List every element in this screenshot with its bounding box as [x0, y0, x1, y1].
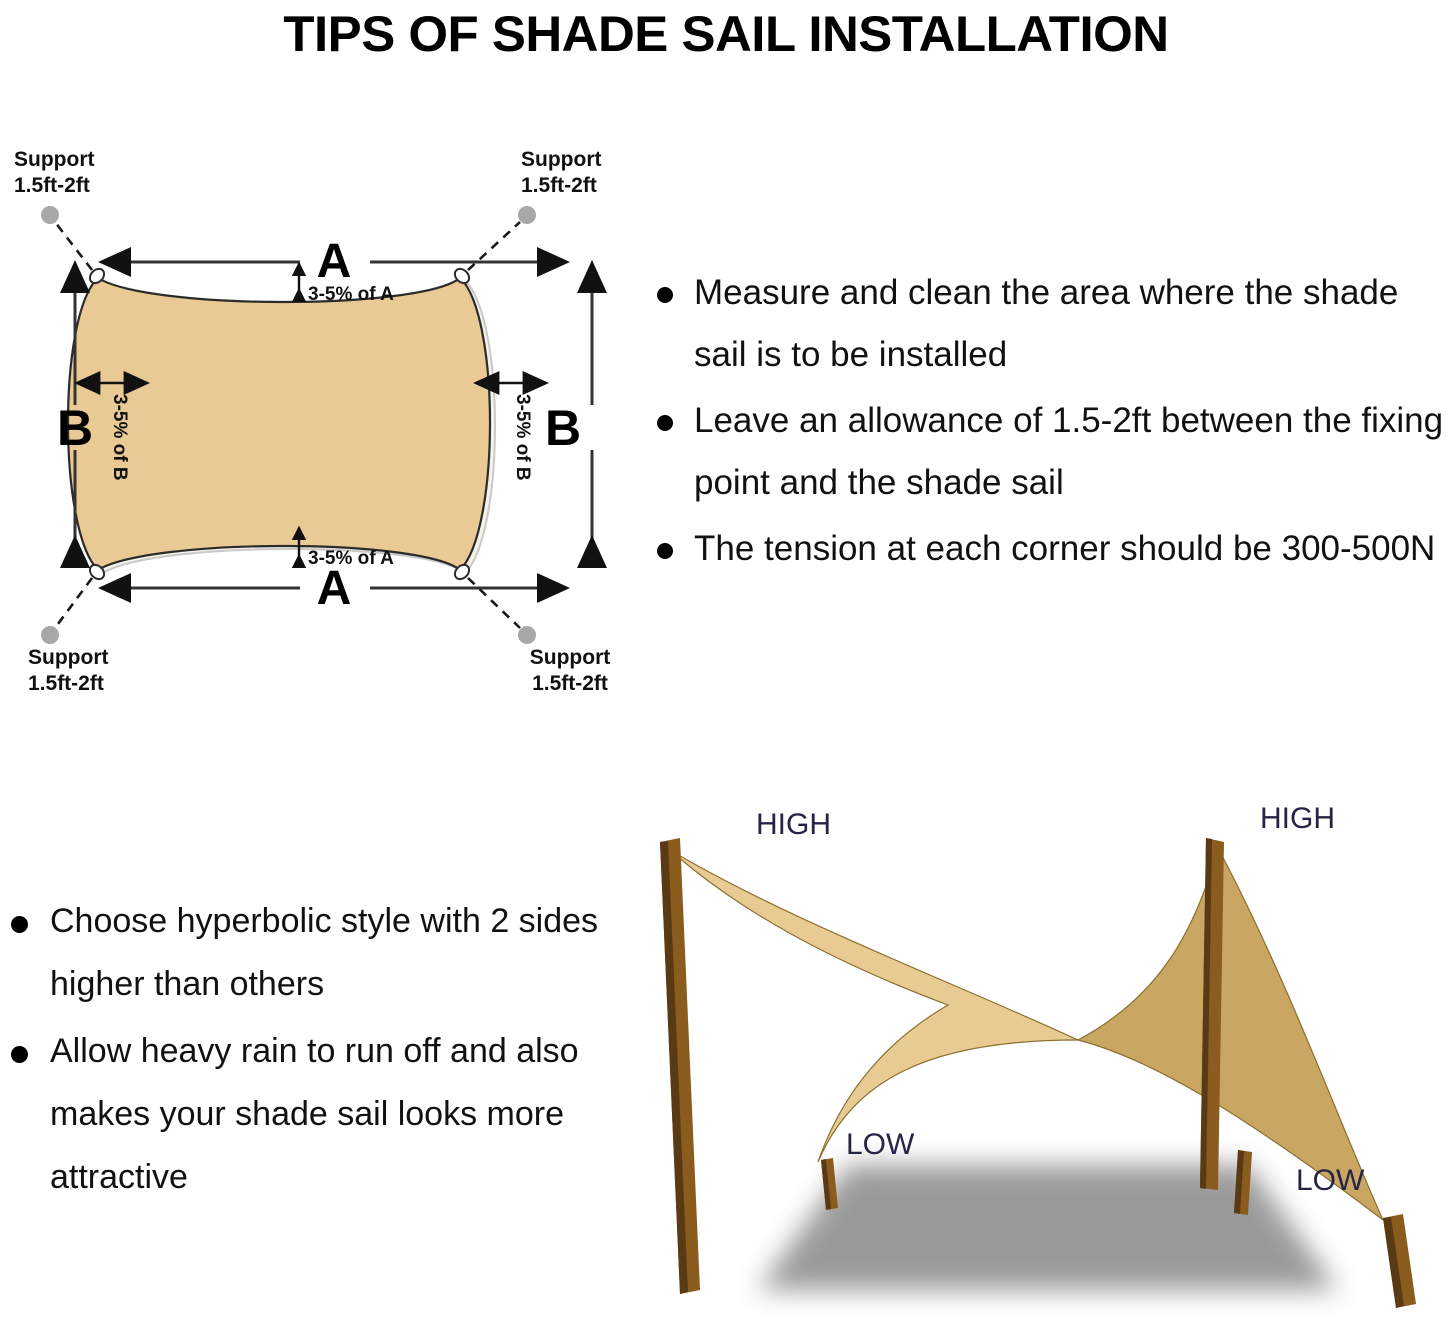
- support-label-bottom-right-line2: 1.5ft-2ft: [532, 672, 608, 695]
- tip-text: Allow heavy rain to run off and also mak…: [50, 1032, 579, 1196]
- dimension-a-top-label: A: [317, 235, 352, 288]
- ground-shadow: [758, 1165, 1338, 1290]
- list-item: Measure and clean the area where the sha…: [648, 262, 1448, 386]
- support-label-bottom-left-line1: Support: [28, 646, 108, 669]
- page-title: TIPS OF SHADE SAIL INSTALLATION: [0, 0, 1452, 68]
- hyperbolic-diagram-svg: HIGH HIGH LOW LOW: [648, 790, 1452, 1325]
- sail-shape: [68, 278, 490, 570]
- measurement-diagram: Support 1.5ft-2ft Support 1.5ft-2ft Supp…: [0, 150, 660, 740]
- dimension-a-top: A: [128, 235, 540, 288]
- dimension-a-bottom: A: [128, 562, 540, 615]
- dimension-b-left-label: B: [57, 400, 93, 456]
- bullet-dot-icon: [657, 543, 673, 559]
- bullet-dot-icon: [11, 916, 28, 933]
- label-low-left: LOW: [846, 1128, 915, 1161]
- tip-text: Choose hyperbolic style with 2 sides hig…: [50, 902, 598, 1003]
- bullet-dot-icon: [657, 415, 673, 431]
- dimension-a-bottom-label: A: [317, 562, 352, 615]
- sag-label-b-left: 3-5% of B: [109, 394, 130, 481]
- tips-bottom-bullets: Choose hyperbolic style with 2 sides hig…: [6, 890, 626, 1209]
- support-label-top-left-line2: 1.5ft-2ft: [14, 174, 90, 197]
- label-low-right: LOW: [1296, 1164, 1365, 1197]
- installation-tips-list: Measure and clean the area where the sha…: [648, 262, 1448, 584]
- sail-panel-left: [670, 850, 1078, 1162]
- bullet-dot-icon: [11, 1046, 28, 1063]
- support-label-top-left-line1: Support: [14, 150, 94, 171]
- sag-label-b-right: 3-5% of B: [512, 394, 533, 481]
- dimension-b-right-label: B: [545, 400, 581, 456]
- support-label-top-right-line1: Support: [521, 150, 601, 171]
- tip-text: Measure and clean the area where the sha…: [694, 273, 1398, 374]
- label-high-left: HIGH: [756, 808, 831, 841]
- tip-text: Leave an allowance of 1.5-2ft between th…: [694, 401, 1443, 502]
- list-item: Leave an allowance of 1.5-2ft between th…: [648, 390, 1448, 514]
- hyperbolic-installation-diagram: HIGH HIGH LOW LOW: [648, 790, 1452, 1325]
- hyperbolic-tips-list: Choose hyperbolic style with 2 sides hig…: [6, 890, 626, 1213]
- measurement-diagram-svg: Support 1.5ft-2ft Support 1.5ft-2ft Supp…: [0, 150, 660, 740]
- support-label-bottom-right-line1: Support: [530, 646, 610, 669]
- sag-label-a-top: 3-5% of A: [308, 284, 394, 305]
- list-item: The tension at each corner should be 300…: [648, 518, 1448, 580]
- list-item: Allow heavy rain to run off and also mak…: [6, 1020, 626, 1209]
- bullet-dot-icon: [657, 287, 673, 303]
- post-low-right-front: [1383, 1214, 1416, 1308]
- label-high-right: HIGH: [1260, 802, 1335, 835]
- dimension-b-right: B: [545, 290, 592, 565]
- support-label-bottom-left-line2: 1.5ft-2ft: [28, 672, 104, 695]
- post-high-left: [660, 838, 700, 1294]
- support-label-top-right-line2: 1.5ft-2ft: [521, 174, 597, 197]
- list-item: Choose hyperbolic style with 2 sides hig…: [6, 890, 626, 1016]
- tip-text: The tension at each corner should be 300…: [694, 529, 1435, 568]
- tips-top-bullets: Measure and clean the area where the sha…: [648, 262, 1448, 580]
- sag-label-a-bottom: 3-5% of A: [308, 548, 394, 569]
- sag-indicator-b-right: 3-5% of B: [497, 383, 533, 481]
